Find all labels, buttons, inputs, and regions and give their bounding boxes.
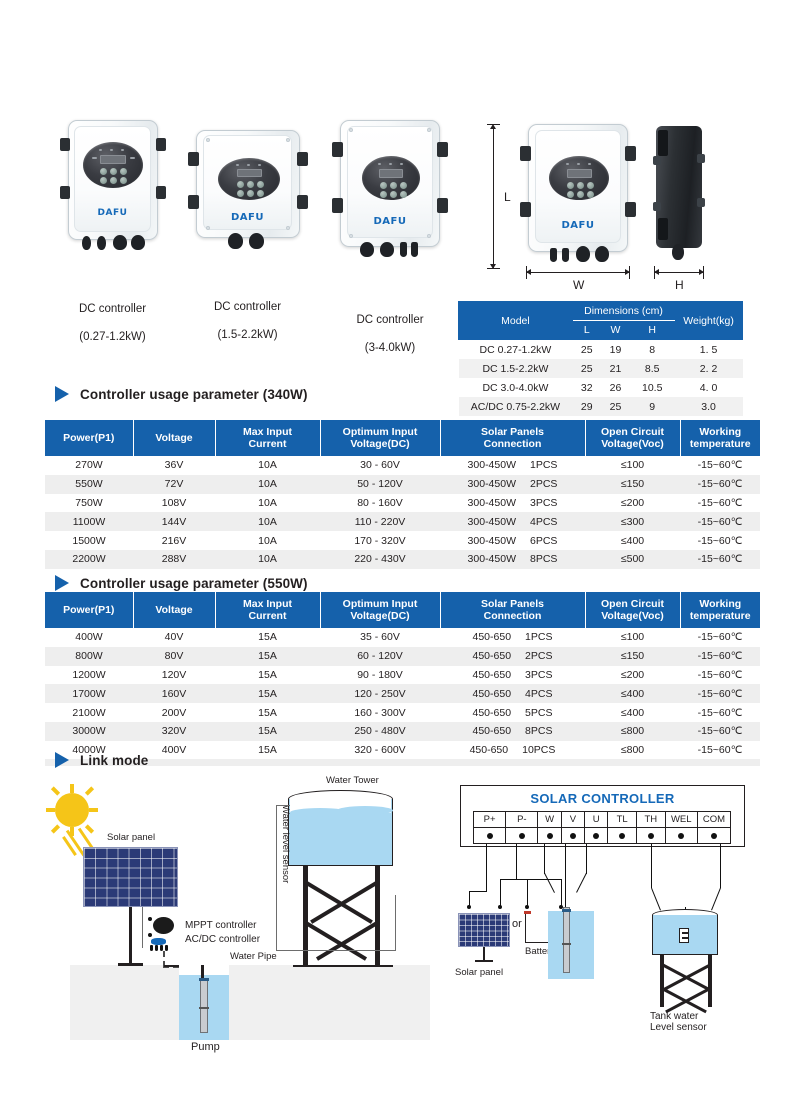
cell-optimum-voltage: 120 - 250V xyxy=(320,684,440,703)
panel-wattage: 300-450W xyxy=(468,535,516,547)
motor-lead xyxy=(544,873,555,893)
cell-max-current: 10A xyxy=(215,512,320,531)
label-solar-panel: Solar panel xyxy=(107,832,155,843)
table-row: 1500W216V10A170 - 320V300-450W6PCS≤400-1… xyxy=(45,531,760,550)
controller-front-view: DAFU xyxy=(528,124,628,252)
terminal-pin-u[interactable] xyxy=(585,828,608,843)
mount-bracket xyxy=(520,202,531,217)
mount-bracket xyxy=(297,195,308,209)
dimtable-th-dimensions: Dimensions (cm) xyxy=(572,302,674,321)
pv-bus-wire xyxy=(500,879,501,907)
mount-tab xyxy=(697,198,705,207)
th-power: Power(P1) xyxy=(45,420,133,456)
controller-cable xyxy=(150,945,153,951)
solar-panel-graphic xyxy=(458,913,510,947)
panel-to-controller-wire xyxy=(142,907,143,915)
terminal-label-tl[interactable]: TL xyxy=(608,812,637,827)
indicator-led xyxy=(588,163,591,165)
triangle-bullet-icon xyxy=(55,575,69,591)
terminal-label-pplus[interactable]: P+ xyxy=(474,812,506,827)
cell-open-circuit: ≤300 xyxy=(585,512,680,531)
table-row: 400W40V15A35 - 60V450-6501PCS≤100-15~60℃ xyxy=(45,628,760,647)
display-panel xyxy=(83,142,143,188)
mount-tab xyxy=(653,156,661,165)
th-working-temp: Working temperature xyxy=(680,420,760,456)
housing-screw xyxy=(427,234,431,238)
th-solar-panels: Solar Panels Connection xyxy=(440,592,585,628)
product-power: (3-4.0kW) xyxy=(365,342,415,354)
cell-optimum-voltage: 110 - 220V xyxy=(320,512,440,531)
cell-power: 2100W xyxy=(45,703,133,722)
cell-working-temp: -15~60℃ xyxy=(680,550,760,569)
indicator-led xyxy=(99,149,102,151)
terminal-label-th[interactable]: TH xyxy=(637,812,666,827)
cell-open-circuit: ≤150 xyxy=(585,475,680,494)
panel-wattage: 450-650 xyxy=(473,650,512,662)
table-row: AC/DC 0.75-2.2kW 29 25 9 3.0 xyxy=(459,397,743,416)
cell-l: 25 xyxy=(572,340,601,360)
sensor-lead xyxy=(651,888,661,911)
tank-sensor-text: Tank water Level sensor xyxy=(650,1011,707,1033)
link-mode-left-diagram: Solar panel MPPT controller AC/DC contro… xyxy=(45,775,435,1060)
cell-working-temp: -15~60℃ xyxy=(680,666,760,685)
indicator-led xyxy=(121,149,124,151)
cell-solar-panels: 300-450W3PCS xyxy=(440,494,585,513)
water-pipe-line xyxy=(293,965,393,967)
cell-model: DC 1.5-2.2kW xyxy=(459,359,573,378)
solar-panel-mast xyxy=(129,907,132,966)
panel-wattage: 450-650 xyxy=(473,725,512,737)
indicator-led xyxy=(247,164,250,166)
mount-bracket xyxy=(188,152,199,166)
label-water-tower: Water Tower xyxy=(326,775,379,786)
tank-water-wave xyxy=(337,806,393,815)
cell-working-temp: -15~60℃ xyxy=(680,531,760,550)
cell-solar-panels: 300-450W1PCS xyxy=(440,456,585,475)
table-row: 270W36V10A30 - 60V300-450W1PCS≤100-15~60… xyxy=(45,456,760,475)
cell-power: 400W xyxy=(45,628,133,647)
th-max-current: Max Input Current xyxy=(215,420,320,456)
panel-count: 1PCS xyxy=(525,631,552,643)
cell-weight: 1. 5 xyxy=(675,340,743,360)
lcd-screen xyxy=(237,169,262,177)
table-row: DC 3.0-4.0kW 32 26 10.5 4. 0 xyxy=(459,378,743,397)
parameter-table-550w: Power(P1) Voltage Max Input Current Opti… xyxy=(45,592,760,766)
cable-gland xyxy=(380,242,394,257)
cell-open-circuit: ≤800 xyxy=(585,722,680,741)
table-row: 3000W320V15A250 - 480V450-6508PCS≤800-15… xyxy=(45,722,760,741)
pv-terminal-dot xyxy=(467,905,471,909)
terminal-wire xyxy=(516,844,517,880)
keypad-button[interactable] xyxy=(380,191,387,198)
th-voltage: Voltage xyxy=(133,592,215,628)
battery-terminal-dot xyxy=(525,905,529,909)
cell-w: 21 xyxy=(601,359,630,378)
indicator-led xyxy=(389,163,392,165)
cell-open-circuit: ≤500 xyxy=(585,550,680,569)
dimension-label-l: L xyxy=(504,190,511,204)
ground-layer xyxy=(70,965,430,1040)
keypad-button[interactable] xyxy=(577,182,584,189)
pump-coupler xyxy=(199,1007,209,1009)
terminal-pin-v[interactable] xyxy=(562,828,585,843)
controller-cable xyxy=(155,945,158,951)
solar-controller-title: SOLAR CONTROLLER xyxy=(460,791,745,806)
terminal-pin-pminus[interactable] xyxy=(506,828,538,843)
th-power: Power(P1) xyxy=(45,592,133,628)
product-item-2: DAFU DC controller (3-4.0kW) xyxy=(315,120,465,355)
panel-count: 4PCS xyxy=(525,688,552,700)
indicator-led xyxy=(566,163,569,165)
keypad-button[interactable] xyxy=(567,182,574,189)
terminal-pin-w[interactable] xyxy=(538,828,561,843)
cell-solar-panels: 300-450W6PCS xyxy=(440,531,585,550)
terminal-pin-tl[interactable] xyxy=(608,828,637,843)
mount-bracket xyxy=(625,202,636,217)
keypad-button[interactable] xyxy=(257,181,264,188)
motor-lead xyxy=(576,873,587,893)
cell-model: AC/DC 0.75-2.2kW xyxy=(459,397,573,416)
terminal-label-w[interactable]: W xyxy=(538,812,561,827)
cell-weight: 3.0 xyxy=(675,397,743,416)
side-label xyxy=(130,157,135,159)
terminal-dot-icon xyxy=(593,833,599,839)
pump-coupler xyxy=(562,909,571,912)
ptable-body-340w: 270W36V10A30 - 60V300-450W1PCS≤100-15~60… xyxy=(45,456,760,576)
controller-device-image-1: DAFU xyxy=(196,130,300,238)
cell-max-current: 15A xyxy=(215,666,320,685)
cell-voltage: 288V xyxy=(133,550,215,569)
keypad-button[interactable] xyxy=(100,168,107,175)
solar-panel-base xyxy=(475,960,493,962)
section-title-text: Controller usage parameter (340W) xyxy=(80,387,308,402)
mount-bracket xyxy=(60,186,70,199)
cell-max-current: 15A xyxy=(215,703,320,722)
cell-open-circuit: ≤400 xyxy=(585,703,680,722)
mount-bracket xyxy=(332,142,343,157)
cell-max-current: 15A xyxy=(215,741,320,760)
cell-h: 10.5 xyxy=(630,378,675,397)
cell-max-current: 15A xyxy=(215,722,320,741)
mount-bracket xyxy=(156,186,166,199)
cable-gland xyxy=(550,248,557,262)
table-footer-strip xyxy=(45,759,760,766)
solar-panel-base xyxy=(118,963,143,966)
terminal-wire xyxy=(586,844,587,874)
battery-terminal-pos xyxy=(524,911,531,914)
sensor-indicator xyxy=(682,932,688,934)
cell-w: 26 xyxy=(601,378,630,397)
cell-power: 1700W xyxy=(45,684,133,703)
motor-lead xyxy=(565,873,566,907)
housing-screw xyxy=(349,234,353,238)
dimension-tick xyxy=(629,266,630,279)
keypad-button[interactable] xyxy=(390,182,397,189)
cell-solar-panels: 450-6505PCS xyxy=(440,703,585,722)
mount-bracket xyxy=(60,138,70,151)
terminal-wire xyxy=(486,844,487,892)
terminal-pin-wel[interactable] xyxy=(666,828,698,843)
label-pump: Pump xyxy=(191,1041,220,1053)
cell-open-circuit: ≤100 xyxy=(585,628,680,647)
cell-working-temp: -15~60℃ xyxy=(680,703,760,722)
sun-ray xyxy=(51,786,60,795)
solar-panel-mast xyxy=(483,947,485,961)
panel-wattage: 450-650 xyxy=(470,744,509,756)
keypad-button[interactable] xyxy=(100,177,107,184)
table-row: 2200W288V10A220 - 430V300-450W8PCS≤500-1… xyxy=(45,550,760,569)
cell-solar-panels: 450-6508PCS xyxy=(440,722,585,741)
panel-wattage: 300-450W xyxy=(468,459,516,471)
keypad-button[interactable] xyxy=(577,191,584,198)
label-water-pipe: Water Pipe xyxy=(230,951,277,962)
cable-gland xyxy=(400,242,407,257)
dimension-tick xyxy=(654,266,655,279)
keypad-button[interactable] xyxy=(257,190,264,197)
product-caption-1: DC controller (1.5-2.2kW) xyxy=(180,286,315,342)
panel-wattage: 300-450W xyxy=(468,553,516,565)
table-row: DC 0.27-1.2kW 25 19 8 1. 5 xyxy=(459,340,743,360)
cell-voltage: 144V xyxy=(133,512,215,531)
cell-max-current: 15A xyxy=(215,628,320,647)
keypad-button[interactable] xyxy=(587,191,594,198)
housing-screw xyxy=(286,138,290,142)
dimension-label-h: H xyxy=(675,278,684,292)
cell-voltage: 72V xyxy=(133,475,215,494)
cable-gland xyxy=(131,235,145,250)
cell-max-current: 10A xyxy=(215,550,320,569)
cell-solar-panels: 300-450W8PCS xyxy=(440,550,585,569)
sensor-wire xyxy=(276,805,277,950)
terminal-label-com[interactable]: COM xyxy=(698,812,730,827)
cell-working-temp: -15~60℃ xyxy=(680,741,760,760)
th-open-circuit: Open Circuit Voltage(Voc) xyxy=(585,592,680,628)
keypad-button[interactable] xyxy=(247,181,254,188)
cell-l: 32 xyxy=(572,378,601,397)
cell-voltage: 120V xyxy=(133,666,215,685)
indicator-led xyxy=(110,149,113,151)
pv-terminal-dot xyxy=(498,905,502,909)
terminal-dot-icon xyxy=(519,833,525,839)
cell-optimum-voltage: 220 - 430V xyxy=(320,550,440,569)
keypad-button[interactable] xyxy=(390,191,397,198)
terminal-label-v[interactable]: V xyxy=(562,812,585,827)
triangle-bullet-icon xyxy=(55,386,69,402)
keypad-button[interactable] xyxy=(400,191,407,198)
terminal-label-pminus[interactable]: P- xyxy=(506,812,538,827)
cable-gland xyxy=(411,242,418,257)
panel-wattage: 300-450W xyxy=(468,497,516,509)
cell-optimum-voltage: 60 - 120V xyxy=(320,647,440,666)
terminal-wire xyxy=(544,844,545,874)
housing-screw xyxy=(206,226,210,230)
dimension-line-l xyxy=(493,128,494,268)
cell-working-temp: -15~60℃ xyxy=(680,647,760,666)
table-row: 750W108V10A80 - 160V300-450W3PCS≤200-15~… xyxy=(45,494,760,513)
parameter-table-340w: Power(P1) Voltage Max Input Current Opti… xyxy=(45,420,760,576)
brand-logo: DAFU xyxy=(374,216,407,227)
table-row: 4000W400V15A320 - 600V450-65010PCS≤800-1… xyxy=(45,741,760,760)
cell-voltage: 160V xyxy=(133,684,215,703)
cell-open-circuit: ≤400 xyxy=(585,684,680,703)
cell-working-temp: -15~60℃ xyxy=(680,722,760,741)
cell-solar-panels: 450-6504PCS xyxy=(440,684,585,703)
pump-coupler xyxy=(199,978,209,981)
cell-weight: 2. 2 xyxy=(675,359,743,378)
controller-led xyxy=(148,917,152,921)
terminal-label-wel[interactable]: WEL xyxy=(666,812,698,827)
dimtable-header-row-1: Model Dimensions (cm) Weight(kg) xyxy=(459,302,743,321)
table-row: 1100W144V10A110 - 220V300-450W4PCS≤300-1… xyxy=(45,512,760,531)
brand-logo: DAFU xyxy=(98,208,128,218)
controller-side-view xyxy=(656,126,702,248)
cell-optimum-voltage: 50 - 120V xyxy=(320,475,440,494)
well-top-cover xyxy=(179,965,229,975)
cell-working-temp: -15~60℃ xyxy=(680,475,760,494)
panel-count: 10PCS xyxy=(522,744,555,756)
keypad-button[interactable] xyxy=(247,190,254,197)
mount-bracket xyxy=(332,198,343,213)
keypad-button[interactable] xyxy=(120,177,127,184)
controller-cable xyxy=(165,945,168,951)
cell-open-circuit: ≤100 xyxy=(585,456,680,475)
panel-count: 8PCS xyxy=(525,725,552,737)
pump-body xyxy=(563,907,570,973)
mount-bracket xyxy=(156,138,166,151)
panel-count: 8PCS xyxy=(530,553,557,565)
cell-max-current: 10A xyxy=(215,494,320,513)
panel-wattage: 450-650 xyxy=(473,669,512,681)
cell-optimum-voltage: 160 - 300V xyxy=(320,703,440,722)
keypad-button[interactable] xyxy=(587,182,594,189)
cell-power: 550W xyxy=(45,475,133,494)
mount-bracket xyxy=(297,152,308,166)
dimension-label-w: W xyxy=(573,278,584,292)
label-tank-sensor: Tank water Level sensor xyxy=(650,1011,707,1033)
terminal-pin-pplus[interactable] xyxy=(474,828,506,843)
sensor-wire xyxy=(395,895,396,951)
cell-power: 3000W xyxy=(45,722,133,741)
panel-wattage: 450-650 xyxy=(473,631,512,643)
panel-wattage: 300-450W xyxy=(468,478,516,490)
cell-max-current: 10A xyxy=(215,456,320,475)
housing-lip xyxy=(658,130,668,156)
terminal-pin-com[interactable] xyxy=(698,828,730,843)
cell-optimum-voltage: 90 - 180V xyxy=(320,666,440,685)
cell-solar-panels: 300-450W2PCS xyxy=(440,475,585,494)
section-title-text: Link mode xyxy=(80,753,148,768)
cell-voltage: 80V xyxy=(133,647,215,666)
terminal-dot-icon xyxy=(678,833,684,839)
product-name: DC controller xyxy=(214,301,281,313)
keypad-button[interactable] xyxy=(120,168,127,175)
table-row: 800W80V15A60 - 120V450-6502PCS≤150-15~60… xyxy=(45,647,760,666)
well-water xyxy=(548,911,594,979)
th-solar-panels: Solar Panels Connection xyxy=(440,420,585,456)
wiring-diagram: SOLAR CONTROLLER P+P-WVUTLTHWELCOM xyxy=(455,785,760,1060)
controller-frame-line xyxy=(142,910,143,948)
pump-coupler xyxy=(562,943,571,945)
cell-solar-panels: 300-450W4PCS xyxy=(440,512,585,531)
brand-logo: DAFU xyxy=(231,212,264,223)
cell-weight: 4. 0 xyxy=(675,378,743,397)
dimtable-th-weight: Weight(kg) xyxy=(675,302,743,340)
cable-gland xyxy=(360,242,374,257)
cable-gland xyxy=(228,233,243,249)
cell-h: 8 xyxy=(630,340,675,360)
sun-core xyxy=(55,793,89,827)
housing-screw xyxy=(427,128,431,132)
cell-working-temp: -15~60℃ xyxy=(680,512,760,531)
cell-power: 1200W xyxy=(45,666,133,685)
mount-bracket xyxy=(437,142,448,157)
table-row: 2100W200V15A160 - 300V450-6505PCS≤400-15… xyxy=(45,703,760,722)
terminal-pin-th[interactable] xyxy=(637,828,666,843)
cell-h: 8.5 xyxy=(630,359,675,378)
terminal-wire xyxy=(651,844,652,888)
indicator-led xyxy=(236,164,239,166)
cell-voltage: 36V xyxy=(133,456,215,475)
keypad-button[interactable] xyxy=(110,177,117,184)
keypad-button[interactable] xyxy=(380,182,387,189)
controller-device-image-2: DAFU xyxy=(340,120,440,247)
terminal-dot-icon xyxy=(711,833,717,839)
section-title-text: Controller usage parameter (550W) xyxy=(80,576,308,591)
cell-optimum-voltage: 30 - 60V xyxy=(320,456,440,475)
product-caption-2: DC controller (3-4.0kW) xyxy=(315,299,465,355)
dimension-tick xyxy=(526,266,527,279)
cable-gland xyxy=(562,248,569,262)
product-item-0: DAFU DC controller (0.27-1.2kW) xyxy=(45,120,180,344)
cable-gland xyxy=(249,233,264,249)
keypad-button[interactable] xyxy=(237,181,244,188)
cell-solar-panels: 450-65010PCS xyxy=(440,741,585,760)
dimtable-th-l: L xyxy=(572,321,601,340)
controller-led xyxy=(148,933,152,937)
footer-strip-cell xyxy=(45,759,760,766)
keypad-button[interactable] xyxy=(237,190,244,197)
panel-wattage: 450-650 xyxy=(473,707,512,719)
keypad-button[interactable] xyxy=(110,168,117,175)
sun-ray xyxy=(46,808,55,812)
cell-h: 9 xyxy=(630,397,675,416)
cable-gland xyxy=(576,246,590,262)
product-item-1: DAFU DC controller (1.5-2.2kW) xyxy=(180,130,315,342)
mount-bracket xyxy=(625,146,636,161)
terminal-label-u[interactable]: U xyxy=(585,812,608,827)
keypad-button[interactable] xyxy=(400,182,407,189)
terminal-wire xyxy=(565,844,566,874)
pv-bus-wire xyxy=(561,879,562,907)
th-voltage: Voltage xyxy=(133,420,215,456)
cell-l: 29 xyxy=(572,397,601,416)
cell-solar-panels: 450-6502PCS xyxy=(440,647,585,666)
product-name: DC controller xyxy=(79,303,146,315)
dimension-tick xyxy=(487,124,500,125)
cell-optimum-voltage: 35 - 60V xyxy=(320,628,440,647)
cell-voltage: 40V xyxy=(133,628,215,647)
section-heading-340w: Controller usage parameter (340W) xyxy=(55,386,308,402)
pump-body xyxy=(200,978,208,1033)
lcd-screen xyxy=(567,169,592,178)
mount-bracket xyxy=(520,146,531,161)
sun-ray xyxy=(89,808,98,812)
lcd-screen xyxy=(100,155,126,164)
keypad-button[interactable] xyxy=(567,191,574,198)
product-caption-0: DC controller (0.27-1.2kW) xyxy=(45,288,180,344)
terminal-wire xyxy=(720,844,721,888)
th-max-current: Max Input Current xyxy=(215,592,320,628)
